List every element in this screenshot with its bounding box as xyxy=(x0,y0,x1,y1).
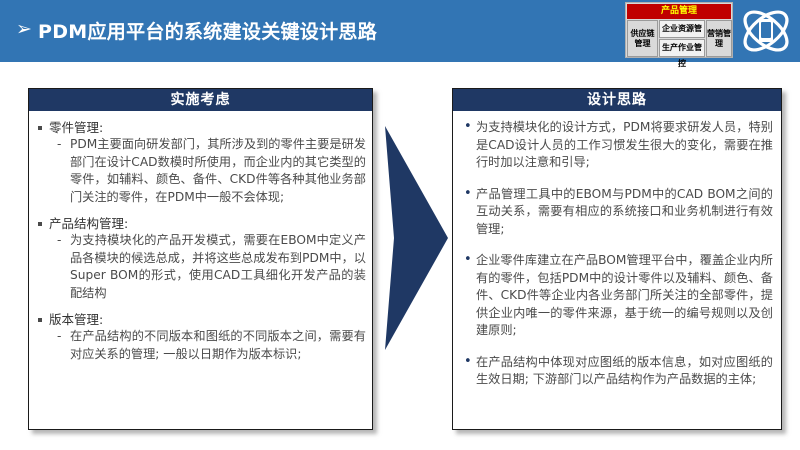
logo-erp-label: 企业资源管理 xyxy=(659,20,705,38)
title-bullet-icon: ➢ xyxy=(16,20,32,39)
list-item: 在产品结构中体现对应图纸的版本信息，如对应图纸的生效日期; 下游部门以产品结构作… xyxy=(463,354,773,389)
left-group-detail: 在产品结构的不同版本和图纸的不同版本之间，需要有对应关系的管理; 一般以日期作为… xyxy=(57,328,366,363)
list-item: 为支持模块化的设计方式，PDM将要求研发人员，特别是CAD设计人员的工作习惯发生… xyxy=(463,119,773,172)
implementation-considerations-panel: 实施考虑 零件管理: PDM主要面向研发部门，其所涉及到的零件主要是研发部门在设… xyxy=(28,88,373,430)
left-panel-header: 实施考虑 xyxy=(29,89,372,111)
page-title: PDM应用平台的系统建设关键设计思路 xyxy=(38,17,377,44)
list-item: 零件管理: PDM主要面向研发部门，其所涉及到的零件主要是研发部门在设计CAD数… xyxy=(35,119,366,206)
right-chevron-arrow-icon xyxy=(382,126,448,350)
list-item: 版本管理: 在产品结构的不同版本和图纸的不同版本之间，需要有对应关系的管理; 一… xyxy=(35,311,366,363)
left-group-heading: 版本管理: xyxy=(35,311,366,328)
logo-supply-chain-label: 供应链管理 xyxy=(627,20,658,57)
left-group-heading: 零件管理: xyxy=(35,119,366,136)
design-approach-panel: 设计思路 为支持模块化的设计方式，PDM将要求研发人员，特别是CAD设计人员的工… xyxy=(452,88,782,430)
logo-production-control-label: 生产作业管控 xyxy=(659,39,705,57)
logo-module-matrix: 产品管理 供应链管理 企业资源管理 生产作业管控 营销管理 xyxy=(625,2,733,58)
logo-marketing-label: 营销管理 xyxy=(706,20,732,57)
list-item: 企业零件库建立在产品BOM管理平台中，覆盖企业内所有的零件，包括PDM中的设计零… xyxy=(463,252,773,340)
logo-product-management-label: 产品管理 xyxy=(627,4,731,19)
left-group-heading: 产品结构管理: xyxy=(35,215,366,232)
right-panel-body: 为支持模块化的设计方式，PDM将要求研发人员，特别是CAD设计人员的工作习惯发生… xyxy=(453,111,781,407)
atom-tablet-icon xyxy=(737,3,795,59)
slide-title-bar: ➢ PDM应用平台的系统建设关键设计思路 产品管理 供应链管理 企业资源管理 生… xyxy=(0,0,800,62)
list-item: 产品结构管理: 为支持模块化的产品开发模式，需要在EBOM中定义产品各模块的候选… xyxy=(35,215,366,302)
left-panel-body: 零件管理: PDM主要面向研发部门，其所涉及到的零件主要是研发部门在设计CAD数… xyxy=(29,111,372,376)
right-panel-header: 设计思路 xyxy=(453,89,781,111)
list-item: 产品管理工具中的EBOM与PDM中的CAD BOM之间的互动关系，需要有相应的系… xyxy=(463,186,773,239)
left-group-detail: 为支持模块化的产品开发模式，需要在EBOM中定义产品各模块的候选总成，并将这些总… xyxy=(57,232,366,302)
left-group-detail: PDM主要面向研发部门，其所涉及到的零件主要是研发部门在设计CAD数模时所使用，… xyxy=(57,136,366,206)
corporate-logo: 产品管理 供应链管理 企业资源管理 生产作业管控 营销管理 xyxy=(625,2,797,60)
